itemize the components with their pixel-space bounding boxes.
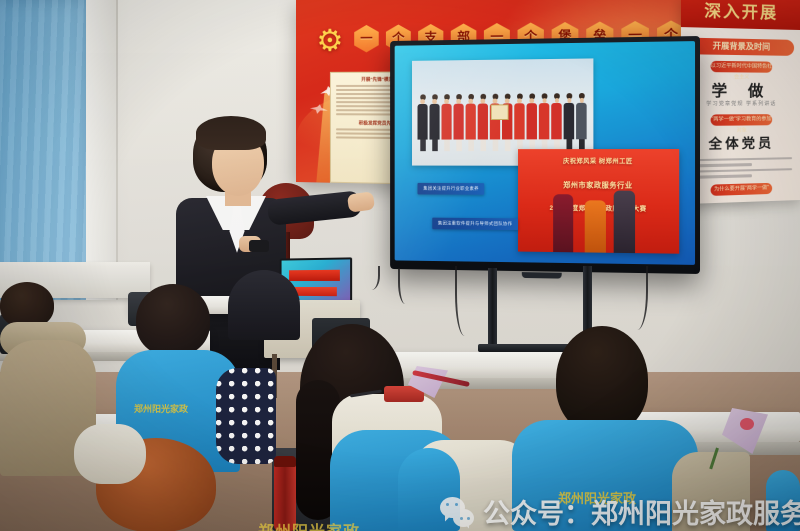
presentation-tv: 庆祝郑风采 树郑州工匠 郑州市家政服务行业 2018年度郑州市家政服务员大赛 集…: [390, 36, 700, 274]
audience-member-back: [228, 270, 300, 340]
presentation-clicker: [249, 240, 269, 252]
tv-logo-bar: [522, 272, 562, 279]
tv-screen: 庆祝郑风采 树郑州工匠 郑州市家政服务行业 2018年度郑州市家政服务员大赛 集…: [395, 41, 695, 265]
certificate-prop: [491, 104, 509, 120]
slide-bullet-1: 集团关注提升行业职业素养: [418, 183, 485, 195]
audience-head-6: [556, 326, 648, 434]
slide-banner-line-2: 郑州市家政服务行业: [518, 180, 680, 192]
communist-party-emblem: ⚙: [310, 23, 350, 60]
slide-banner-line-1: 庆祝郑风采 树郑州工匠: [518, 155, 680, 165]
photo-scene: ⚙ 一 个 支 部 一 个 堡 垒 一 个 党 员 一 面 开展"先锋"模范主题…: [0, 0, 800, 531]
tv-cable: [398, 268, 410, 304]
poster-right-paragraph: [689, 154, 792, 181]
slogan-badge: 一: [354, 25, 379, 53]
poster-right-pill-1: 以习近平新时代中国特色社会主义: [711, 61, 773, 73]
polka-dot-sleeve: [216, 368, 276, 464]
poster-right-pill-2: "两学一做"学习教育的参加对象: [711, 114, 773, 126]
bouquet-flower: [740, 418, 754, 430]
watermark-text: 公众号：郑州阳光家政服务公司: [483, 492, 800, 531]
poster-right-band: 开展背景及时间: [687, 38, 794, 56]
slide-bullet-2: 集团注重软件提升与导师式团队协作: [432, 218, 518, 230]
channel-watermark: 公众号：郑州阳光家政服务公司: [440, 492, 800, 531]
white-knit-scarf: [74, 424, 146, 484]
poster-right-pill-3: 为什么要开展"两学一做": [711, 183, 773, 196]
vest-logo-text: 郑州阳光家政: [134, 402, 188, 415]
slide-photo-stage: 庆祝郑风采 树郑州工匠 郑州市家政服务行业 2018年度郑州市家政服务员大赛: [518, 149, 680, 254]
watermark-secondary-text: 郑州阳光家政: [258, 518, 360, 531]
poster-right-header: 深入开展: [681, 0, 800, 30]
thermos-cap: [274, 456, 296, 467]
window-curtain: [0, 0, 96, 300]
presenter-hair-front: [196, 116, 266, 150]
window-frame: [86, 0, 118, 300]
tv-cable: [455, 266, 471, 336]
wechat-icon: [440, 497, 474, 527]
audience-head-2: [136, 284, 210, 356]
